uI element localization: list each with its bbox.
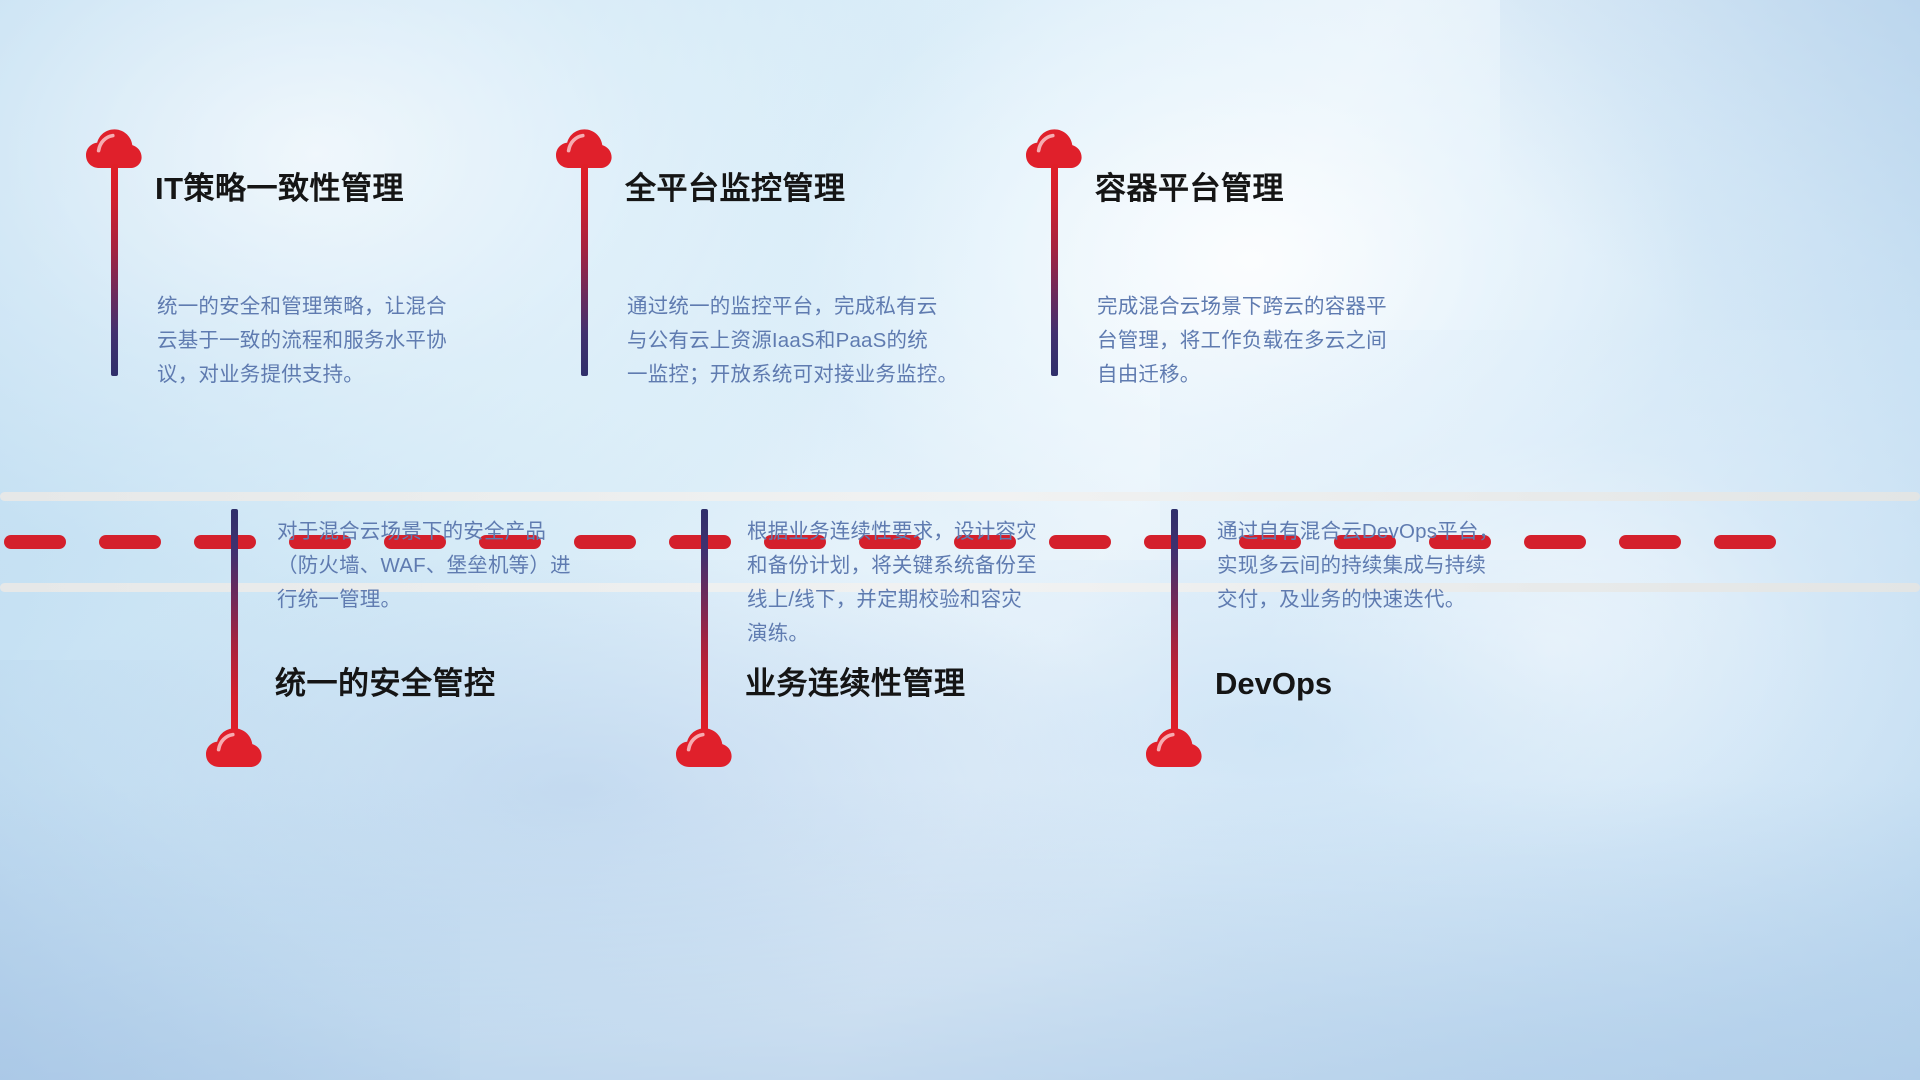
body-line: 议，对业务提供支持。 xyxy=(157,358,477,392)
body-line: 台管理，将工作负载在多云之间 xyxy=(1097,324,1417,358)
body-line: 统一的安全和管理策略，让混合 xyxy=(157,290,477,324)
body-line: 交付，及业务的快速迭代。 xyxy=(1217,583,1537,617)
heading-devops: DevOps xyxy=(1215,665,1332,704)
road-dash xyxy=(1619,535,1681,549)
stem-business-continuity xyxy=(701,509,708,731)
stem-container-platform xyxy=(1051,164,1058,376)
body-line: 实现多云间的持续集成与持续 xyxy=(1217,549,1537,583)
body-business-continuity: 根据业务连续性要求，设计容灾 和备份计划，将关键系统备份至 线上/线下，并定期校… xyxy=(747,515,1067,651)
background-corner-top-right xyxy=(1500,0,1920,330)
cloud-icon xyxy=(1145,727,1203,769)
road-edge-top xyxy=(0,492,1920,501)
body-line: 云基于一致的流程和服务水平协 xyxy=(157,324,477,358)
body-unified-security-control: 对于混合云场景下的安全产品 （防火墙、WAF、堡垒机等）进 行统一管理。 xyxy=(277,515,597,617)
heading-business-continuity: 业务连续性管理 xyxy=(745,665,966,704)
heading-container-platform: 容器平台管理 xyxy=(1095,170,1284,209)
body-it-policy-consistency: 统一的安全和管理策略，让混合 云基于一致的流程和服务水平协 议，对业务提供支持。 xyxy=(157,290,477,392)
road-dash xyxy=(194,535,256,549)
background-corner-bottom-left xyxy=(0,660,460,1080)
cloud-icon xyxy=(675,727,733,769)
body-line: 线上/线下，并定期校验和容灾 xyxy=(747,583,1067,617)
stem-devops xyxy=(1171,509,1178,731)
infographic-canvas: IT策略一致性管理 统一的安全和管理策略，让混合 云基于一致的流程和服务水平协 … xyxy=(0,0,1920,1080)
body-full-platform-monitoring: 通过统一的监控平台，完成私有云 与公有云上资源IaaS和PaaS的统 一监控；开… xyxy=(627,290,947,392)
body-line: 根据业务连续性要求，设计容灾 xyxy=(747,515,1067,549)
heading-it-policy-consistency: IT策略一致性管理 xyxy=(155,170,404,209)
body-line: 通过自有混合云DevOps平台， xyxy=(1217,515,1537,549)
road-dash xyxy=(4,535,66,549)
stem-unified-security-control xyxy=(231,509,238,731)
body-line: 与公有云上资源IaaS和PaaS的统 xyxy=(627,324,947,358)
heading-unified-security-control: 统一的安全管控 xyxy=(275,665,496,704)
body-line: 和备份计划，将关键系统备份至 xyxy=(747,549,1067,583)
body-line: 完成混合云场景下跨云的容器平 xyxy=(1097,290,1417,324)
body-container-platform: 完成混合云场景下跨云的容器平 台管理，将工作负载在多云之间 自由迁移。 xyxy=(1097,290,1417,392)
body-line: 演练。 xyxy=(747,617,1067,651)
marker-business-continuity xyxy=(675,727,735,769)
road-dash xyxy=(99,535,161,549)
marker-unified-security-control xyxy=(205,727,265,769)
body-line: （防火墙、WAF、堡垒机等）进 xyxy=(277,549,597,583)
body-line: 行统一管理。 xyxy=(277,583,597,617)
stem-full-platform-monitoring xyxy=(581,164,588,376)
body-devops: 通过自有混合云DevOps平台， 实现多云间的持续集成与持续 交付，及业务的快速… xyxy=(1217,515,1537,617)
body-line: 自由迁移。 xyxy=(1097,358,1417,392)
road-dash xyxy=(669,535,731,549)
body-line: 一监控；开放系统可对接业务监控。 xyxy=(627,358,947,392)
body-line: 对于混合云场景下的安全产品 xyxy=(277,515,597,549)
heading-full-platform-monitoring: 全平台监控管理 xyxy=(625,170,846,209)
body-line: 通过统一的监控平台，完成私有云 xyxy=(627,290,947,324)
road-dash xyxy=(1714,535,1776,549)
marker-devops xyxy=(1145,727,1205,769)
stem-it-policy-consistency xyxy=(111,164,118,376)
cloud-icon xyxy=(205,727,263,769)
